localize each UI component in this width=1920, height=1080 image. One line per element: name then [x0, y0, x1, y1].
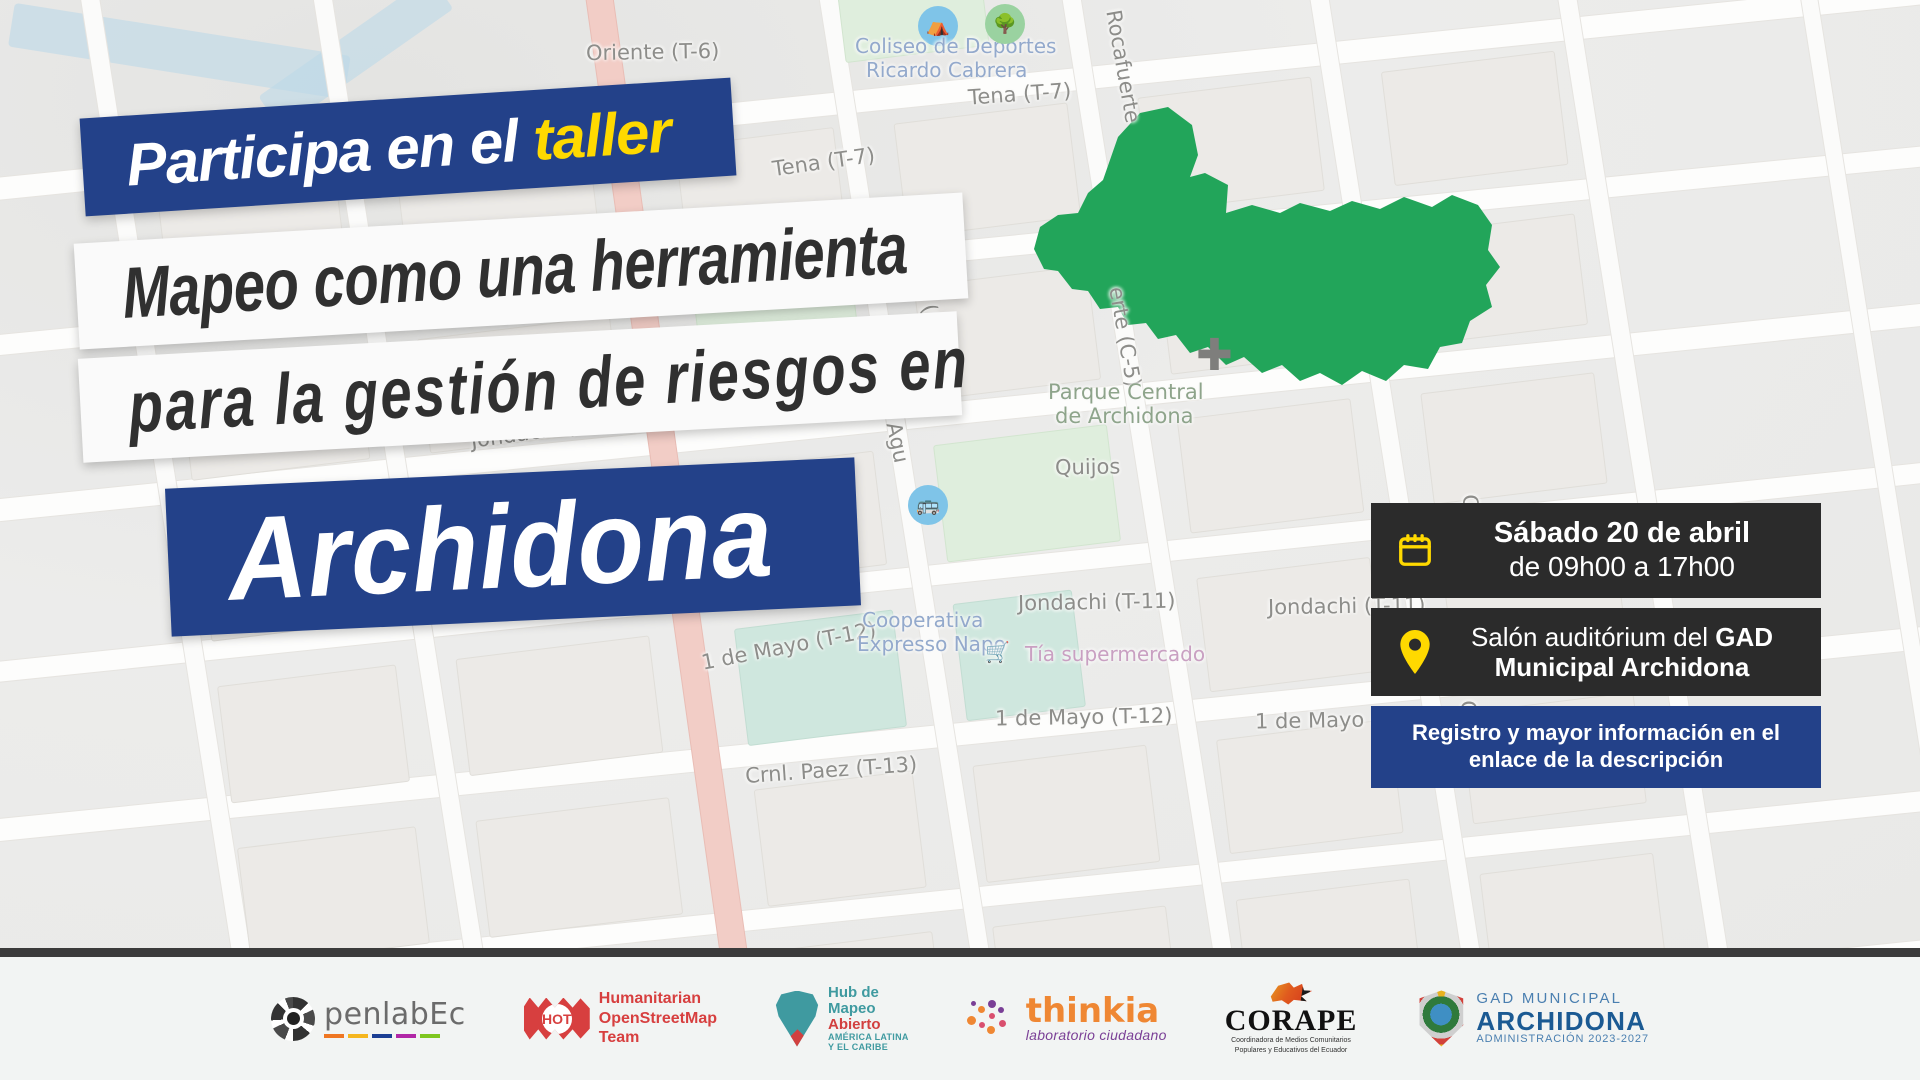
hub-pin-icon [775, 991, 819, 1047]
map-street-label: Jondachi (T-11) [1018, 589, 1176, 616]
logo-gad-municipal-archidona: GAD MUNICIPAL ARCHIDONA ADMINISTRACIÓN 2… [1415, 982, 1649, 1056]
map-street-label: 1 de Mayo (T-12) [995, 703, 1173, 730]
partner-logos-footer: penlabEc HOT Humanitarian OpenStreetMap … [0, 957, 1920, 1080]
map-block [475, 797, 683, 938]
logo-thinkia: thinkia laboratorio ciudadano [967, 982, 1167, 1056]
supermarket-icon-label: 🛒 [985, 640, 1010, 664]
registration-text: Registro y mayor información en el enlac… [1389, 720, 1803, 774]
map-poi-label: Expresso Napo [857, 632, 1006, 656]
thinkia-wordmark: thinkia [1026, 994, 1167, 1028]
openlabec-color-bars [324, 1034, 466, 1038]
corape-sub1: Coordinadora de Medios Comunitarios [1231, 1037, 1351, 1046]
map-block [1479, 853, 1666, 955]
date-line1: Sábado 20 de abril [1441, 517, 1803, 551]
logo-corape: CORAPE Coordinadora de Medios Comunitari… [1225, 982, 1358, 1056]
date-text: Sábado 20 de abril de 09h00 a 17h00 [1441, 517, 1803, 584]
hot-badge-icon: HOT [524, 998, 590, 1040]
gad-line3: ADMINISTRACIÓN 2023-2027 [1476, 1034, 1649, 1046]
park-icon: 🌳 [985, 4, 1025, 44]
venue-text: Salón auditórium del GAD Municipal Archi… [1441, 622, 1803, 683]
gad-line2: ARCHIDONA [1476, 1008, 1649, 1034]
city-name: Archidona [225, 467, 776, 628]
footer-divider [0, 948, 1920, 957]
map-block [455, 635, 663, 776]
hub-text: Hub de Mapeo Abierto AMÉRICA LATINA Y EL… [828, 985, 909, 1053]
kicker-highlight: taller [531, 97, 672, 172]
city-banner: Archidona [165, 457, 861, 636]
registration-line1: Registro y mayor información en el [1412, 720, 1780, 745]
map-poi-label: Coliseo de Deportes [855, 34, 1056, 58]
map-block [1177, 398, 1365, 533]
hub-line3: Abierto [828, 1017, 909, 1033]
openlabec-mark-icon [271, 997, 315, 1041]
bus-station-icon: 🚌 [908, 485, 948, 525]
thinkia-text: thinkia laboratorio ciudadano [1026, 994, 1167, 1043]
map-block [237, 826, 430, 955]
map-poi-label: Parque Central [1048, 380, 1204, 404]
map-poi-label: Ricardo Cabrera [866, 58, 1027, 82]
thinkia-dots-icon [967, 998, 1017, 1040]
map-poi-label: Cooperativa [862, 608, 983, 632]
openlabec-wordmark: penlabEc [324, 999, 466, 1031]
venue-plain: Salón auditórium del [1471, 622, 1715, 652]
hub-line1: Hub de [828, 985, 909, 1001]
logo-hot: HOT Humanitarian OpenStreetMap Team [524, 982, 717, 1056]
map-pin-icon [1389, 630, 1441, 674]
map-block [972, 745, 1160, 883]
archidona-municipality-shape [1000, 85, 1510, 400]
event-info-stack: Sábado 20 de abril de 09h00 a 17h00 Saló… [1371, 503, 1821, 798]
logo-openlabec: penlabEc [271, 982, 466, 1056]
map-block [754, 770, 927, 907]
corape-flame-icon [1268, 982, 1314, 1006]
hot-line1: Humanitarian [599, 989, 717, 1009]
map-park-block [933, 424, 1121, 562]
map-street-label: Oriente (T-6) [586, 39, 720, 65]
corape-wordmark: CORAPE [1225, 1006, 1358, 1036]
map-block [1236, 878, 1423, 955]
church-cross-icon: ✚ [1196, 334, 1233, 378]
hot-text: Humanitarian OpenStreetMap Team [599, 989, 717, 1048]
map-block [1196, 557, 1384, 692]
kicker-plain: Participa en el [124, 106, 535, 198]
openlabec-text: penlabEc [324, 999, 466, 1038]
registration-line2: enlace de la descripción [1469, 747, 1723, 772]
registration-card[interactable]: Registro y mayor información en el enlac… [1371, 706, 1821, 788]
hot-line3: Team [599, 1028, 717, 1048]
poster-canvas: Oriente (T-6) Tena (T-7) Tena (T-7) Misa… [0, 0, 1920, 1080]
date-card: Sábado 20 de abril de 09h00 a 17h00 [1371, 503, 1821, 598]
gad-text: GAD MUNICIPAL ARCHIDONA ADMINISTRACIÓN 2… [1476, 991, 1649, 1045]
map-poi-label: Tía supermercado [1025, 642, 1205, 666]
logo-hub-de-mapeo-abierto: Hub de Mapeo Abierto AMÉRICA LATINA Y EL… [775, 982, 909, 1056]
hub-line5: Y EL CARIBE [828, 1043, 909, 1053]
map-block [217, 664, 410, 803]
gad-coat-of-arms-icon [1415, 991, 1467, 1047]
hot-badge-text: HOT [542, 1011, 572, 1027]
kicker-text: Participa en el taller [124, 96, 672, 199]
thinkia-tagline: laboratorio ciudadano [1026, 1028, 1167, 1043]
hub-line2: Mapeo [828, 1001, 909, 1017]
corape-sub2: Populares y Educativos del Ecuador [1235, 1047, 1347, 1056]
map-poi-label: de Archidona [1055, 404, 1194, 428]
hot-line2: OpenStreetMap [599, 1009, 717, 1029]
map-street-label: Quijos [1055, 454, 1121, 479]
venue-card: Salón auditórium del GAD Municipal Archi… [1371, 608, 1821, 697]
date-line2: de 09h00 a 17h00 [1441, 551, 1803, 584]
calendar-icon [1389, 531, 1441, 569]
